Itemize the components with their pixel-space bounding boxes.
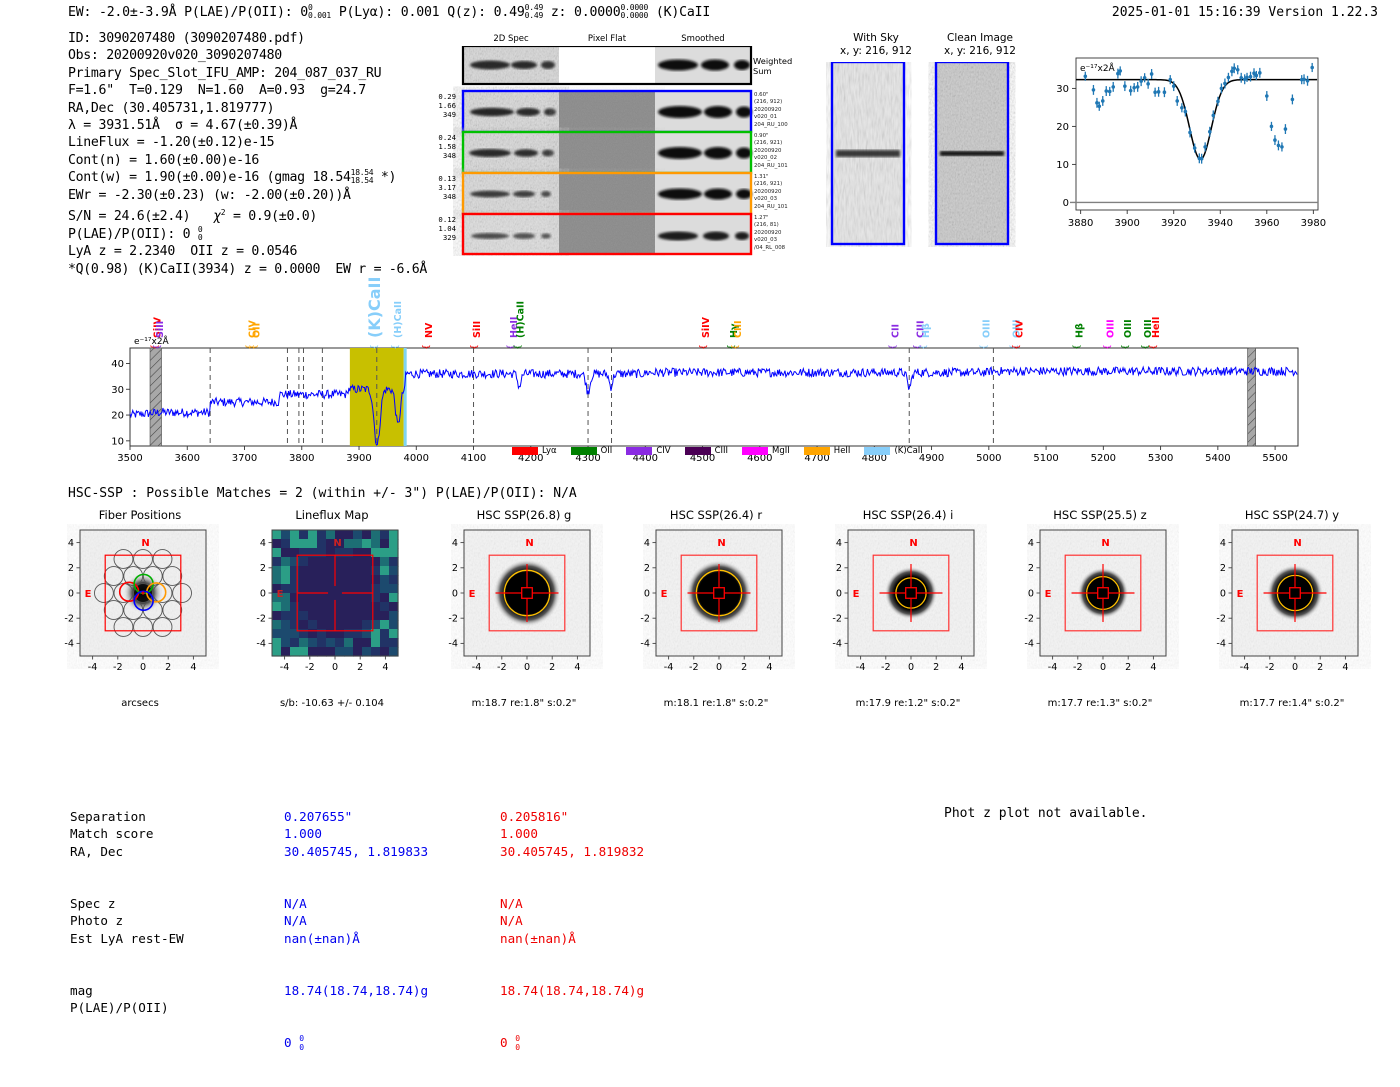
svg-text:{: {	[888, 344, 898, 350]
svg-text:5000: 5000	[976, 453, 1001, 464]
svg-text:4000: 4000	[404, 453, 429, 464]
svg-text:4: 4	[958, 662, 964, 673]
svg-text:SiIV: SiIV	[701, 316, 712, 338]
legend-entry-civ: CIV	[626, 446, 670, 456]
svg-text:4: 4	[382, 662, 388, 673]
svg-text:E: E	[1045, 589, 1052, 600]
svg-text:-2: -2	[1024, 614, 1034, 625]
svg-text:{: {	[513, 344, 523, 350]
svg-text:2: 2	[644, 563, 650, 574]
legend-swatch	[804, 447, 830, 455]
svg-text:3960: 3960	[1254, 218, 1279, 229]
svg-text:-4: -4	[1024, 639, 1034, 650]
svg-text:OIII: OIII	[1105, 319, 1116, 338]
svg-text:{: {	[919, 344, 929, 350]
spec2d-row-left-labels: 0.291.66349	[424, 92, 456, 120]
svg-text:4: 4	[836, 538, 842, 549]
legend-label: OII	[601, 446, 613, 456]
spec2d-col-title-2dspec: 2D Spec	[463, 34, 559, 44]
svg-text:20: 20	[1056, 122, 1069, 133]
svg-text:-2: -2	[64, 614, 74, 625]
svg-text:30: 30	[111, 385, 124, 396]
svg-text:N: N	[909, 538, 917, 549]
svg-text:0: 0	[1063, 198, 1069, 209]
spec2d-row-right-labels: 1.27"(216, 81)20200920v020_03/04_RL_008	[754, 215, 785, 252]
svg-text:-2: -2	[305, 662, 315, 673]
spec2d-row	[463, 91, 752, 132]
svg-text:CII: CII	[891, 324, 902, 338]
legend-swatch	[571, 447, 597, 455]
svg-text:-4: -4	[1216, 639, 1226, 650]
svg-text:N: N	[141, 538, 149, 549]
hsc-panel-0: Fiber PositionsarcsecsNE-4-2024-4-2024	[44, 508, 236, 718]
header-z-frac: 0.00000.0000	[620, 4, 648, 20]
svg-text:-4: -4	[640, 639, 650, 650]
svg-text:-4: -4	[64, 639, 74, 650]
svg-text:0: 0	[1292, 662, 1298, 673]
hsc-panel-5: HSC SSP(25.5) zm:17.7 re:1.3" s:0.2"NE-4…	[1004, 508, 1196, 718]
legend-entry-heii: HeII	[804, 446, 851, 456]
info-line-radec: RA,Dec (30.405731,1.819777)	[68, 100, 427, 117]
svg-text:{: {	[1012, 344, 1022, 350]
svg-text:4: 4	[766, 662, 772, 673]
legend-label: CIV	[656, 446, 670, 456]
with-sky-image	[832, 62, 904, 244]
svg-text:0: 0	[1100, 662, 1106, 673]
svg-text:(H)CaII: (H)CaII	[516, 301, 527, 338]
svg-text:0: 0	[332, 662, 338, 673]
legend-entry-kcaii: (K)CaII	[864, 446, 922, 456]
svg-text:{: {	[731, 344, 741, 350]
svg-text:5300: 5300	[1148, 453, 1173, 464]
svg-text:(K)CaII: (K)CaII	[365, 277, 384, 338]
svg-text:E: E	[661, 589, 668, 600]
hsc-panel-4: HSC SSP(26.4) im:17.9 re:1.2" s:0.2"NE-4…	[812, 508, 1004, 718]
hsc-panel-image: NE-4-2024-4-2024	[620, 524, 812, 714]
svg-text:0: 0	[524, 662, 530, 673]
svg-text:0: 0	[68, 588, 74, 599]
svg-text:{: {	[153, 344, 163, 350]
svg-text:-4: -4	[1240, 662, 1250, 673]
svg-text:-4: -4	[1048, 662, 1058, 673]
info-line-cont-w: Cont(w) = 1.90(±0.00)e-16 (gmag 18.5418.…	[68, 169, 427, 187]
svg-text:-2: -2	[1265, 662, 1275, 673]
svg-text:4: 4	[260, 538, 266, 549]
svg-text:-2: -2	[689, 662, 699, 673]
header-z: z: 0.0000	[551, 5, 621, 20]
hsc-panel-image: NE-4-2024-4-2024	[1004, 524, 1196, 714]
svg-text:3900: 3900	[1114, 218, 1139, 229]
legend-swatch	[626, 447, 652, 455]
svg-text:{: {	[370, 344, 380, 350]
svg-text:0: 0	[644, 588, 650, 599]
svg-text:-4: -4	[832, 639, 842, 650]
svg-text:e⁻¹⁷x2Å: e⁻¹⁷x2Å	[1080, 62, 1116, 74]
spectrum-legend: LyαOIICIVCIIIMgIIHeII(K)CaII	[512, 446, 923, 456]
svg-text:-4: -4	[856, 662, 866, 673]
svg-text:3800: 3800	[289, 453, 314, 464]
svg-text:CIII: CIII	[733, 320, 744, 338]
svg-text:2: 2	[68, 563, 74, 574]
svg-text:HeII: HeII	[1151, 317, 1162, 338]
gmag-frac: 18.5418.54	[351, 169, 374, 185]
legend-entry-lyα: Lyα	[512, 446, 557, 456]
svg-text:0: 0	[1220, 588, 1226, 599]
svg-text:E: E	[277, 589, 284, 600]
svg-text:0: 0	[1028, 588, 1034, 599]
with-sky-title: With Skyx, y: 216, 912	[826, 32, 926, 57]
info-line-lambda-sigma: λ = 3931.51Å σ = 4.67(±0.39)Å	[68, 117, 427, 134]
spec2d-row-right-labels: 1.31"(216, 921)20200920v020_03204_RU_101	[754, 174, 788, 211]
svg-text:{: {	[1103, 344, 1113, 350]
line-fit-zoom-chart: 3880390039203940396039800102030e⁻¹⁷x2Å	[1036, 50, 1326, 240]
legend-label: HeII	[834, 446, 851, 456]
svg-text:0: 0	[140, 662, 146, 673]
detection-info-block: ID: 3090207480 (3090207480.pdf) Obs: 202…	[68, 30, 427, 278]
svg-text:3920: 3920	[1161, 218, 1186, 229]
header-qz-frac: 0.490.49	[525, 4, 543, 20]
svg-text:20: 20	[111, 411, 124, 422]
hsc-panel-title: HSC SSP(26.8) g	[428, 508, 620, 522]
svg-text:2: 2	[452, 563, 458, 574]
svg-text:E: E	[85, 589, 92, 600]
svg-text:-2: -2	[113, 662, 123, 673]
svg-text:3880: 3880	[1068, 218, 1093, 229]
svg-text:{: {	[422, 344, 432, 350]
match-table-col-2: 0.205816"1.00030.405745, 1.819832 N/AN/A…	[500, 773, 644, 1087]
svg-text:4: 4	[574, 662, 580, 673]
hsc-panel-image: NE-4-2024-4-2024	[428, 524, 620, 714]
svg-text:4: 4	[1150, 662, 1156, 673]
svg-text:OIII: OIII	[1123, 319, 1134, 338]
svg-text:3500: 3500	[117, 453, 142, 464]
svg-text:-4: -4	[280, 662, 290, 673]
header-qz: Q(z): 0.49	[447, 5, 524, 20]
svg-text:-4: -4	[88, 662, 98, 673]
hsc-panel-6: HSC SSP(24.7) ym:17.7 re:1.4" s:0.2"NE-4…	[1196, 508, 1388, 718]
svg-text:3600: 3600	[175, 453, 200, 464]
header-plya: P(Lyα): 0.001	[339, 5, 440, 20]
legend-swatch	[864, 447, 890, 455]
hsc-panel-3: HSC SSP(26.4) rm:18.1 re:1.8" s:0.2"NE-4…	[620, 508, 812, 718]
spec2d-col-title-smoothed: Smoothed	[655, 34, 751, 44]
svg-text:N: N	[1293, 538, 1301, 549]
spec2d-row	[463, 214, 751, 254]
header-z-suffix: (K)CaII	[656, 5, 710, 20]
svg-text:CIV: CIV	[1014, 319, 1025, 338]
info-line-ewr: EWr = -2.30(±0.23) (w: -2.00(±0.20))Å	[68, 187, 427, 204]
svg-text:{: {	[1121, 344, 1131, 350]
spec2d-row-left-labels: 0.121.04329	[424, 215, 456, 243]
svg-text:{: {	[1149, 344, 1159, 350]
full-spectrum-chart: 3500360037003800390040004100420043004400…	[96, 270, 1306, 470]
svg-text:OII: OII	[252, 323, 263, 338]
legend-entry-oii: OII	[571, 446, 613, 456]
svg-text:10: 10	[1056, 160, 1069, 171]
clean-image	[936, 62, 1008, 244]
legend-label: MgII	[772, 446, 790, 456]
svg-text:SiII: SiII	[155, 321, 166, 338]
hsc-headline: HSC-SSP : Possible Matches = 2 (within +…	[68, 486, 577, 501]
svg-text:10: 10	[111, 436, 124, 447]
spec2d-row-right-labels: 0.90"(216, 921)20200920v020_02204_RU_101	[754, 133, 788, 170]
hsc-panel-1: Lineflux Maps/b: -10.63 +/- 0.104NE-4-20…	[236, 508, 428, 718]
svg-text:5200: 5200	[1091, 453, 1116, 464]
info-line-lineflux: LineFlux = -1.20(±0.12)e-15	[68, 134, 427, 151]
svg-text:0: 0	[836, 588, 842, 599]
legend-entry-ciii: CIII	[685, 446, 728, 456]
svg-text:3940: 3940	[1208, 218, 1233, 229]
info-line-plae: P(LAE)/P(OII): 0 00	[68, 226, 427, 244]
legend-swatch	[512, 447, 538, 455]
info-line-cont-n: Cont(n) = 1.60(±0.00)e-16	[68, 152, 427, 169]
svg-text:N: N	[333, 538, 341, 549]
legend-label: (K)CaII	[894, 446, 922, 456]
svg-text:2: 2	[549, 662, 555, 673]
hsc-panel-title: Fiber Positions	[44, 508, 236, 522]
svg-text:N: N	[717, 538, 725, 549]
svg-text:2: 2	[1028, 563, 1034, 574]
header-plae-frac: 00.001	[308, 4, 331, 20]
info-line-params: F=1.6" T=0.129 N=1.60 A=0.93 g=24.7	[68, 82, 427, 99]
svg-text:5500: 5500	[1262, 453, 1287, 464]
svg-text:5100: 5100	[1033, 453, 1058, 464]
spec2d-row-left-labels: 0.133.17348	[424, 174, 456, 202]
svg-text:0: 0	[260, 588, 266, 599]
svg-text:-4: -4	[256, 639, 266, 650]
svg-text:0: 0	[716, 662, 722, 673]
spec2d-row-right-labels: 0.60"(216, 912)20200920v020_01204_RU_100	[754, 92, 788, 129]
svg-text:Hβ: Hβ	[1074, 323, 1085, 338]
svg-text:0: 0	[908, 662, 914, 673]
plae-frac: 00	[198, 226, 203, 242]
svg-text:E: E	[1237, 589, 1244, 600]
svg-text:4: 4	[1342, 662, 1348, 673]
timestamp-version: 2025-01-01 15:16:39 Version 1.22.3	[1112, 5, 1378, 20]
svg-text:40: 40	[111, 359, 124, 370]
header-plae-value: 0	[300, 5, 308, 20]
spec2d-row	[463, 173, 752, 214]
spec2d-row	[463, 132, 752, 173]
match-table-col-1: 0.207655"1.00030.405745, 1.819833 N/AN/A…	[284, 773, 428, 1087]
hsc-panel-2: HSC SSP(26.8) gm:18.7 re:1.8" s:0.2"NE-4…	[428, 508, 620, 718]
svg-text:2: 2	[933, 662, 939, 673]
svg-text:Hβ: Hβ	[921, 323, 932, 338]
info-line-id: ID: 3090207480 (3090207480.pdf)	[68, 30, 427, 47]
clean-image-title: Clean Imagex, y: 216, 912	[930, 32, 1030, 57]
hsc-panel-title: HSC SSP(24.7) y	[1196, 508, 1388, 522]
svg-text:N: N	[1101, 538, 1109, 549]
svg-text:OIII: OIII	[982, 319, 993, 338]
svg-text:4: 4	[190, 662, 196, 673]
svg-text:{: {	[699, 344, 709, 350]
svg-text:-2: -2	[1216, 614, 1226, 625]
svg-text:4: 4	[644, 538, 650, 549]
svg-text:2: 2	[260, 563, 266, 574]
svg-text:2: 2	[741, 662, 747, 673]
svg-text:0: 0	[452, 588, 458, 599]
spec2d-col-title-pixelflat: Pixel Flat	[559, 34, 655, 44]
svg-text:-2: -2	[881, 662, 891, 673]
svg-text:{: {	[1072, 344, 1082, 350]
phot-z-note: Phot z plot not available.	[944, 806, 1148, 821]
svg-text:4: 4	[1028, 538, 1034, 549]
hsc-panel-image: NE-4-2024-4-2024	[236, 524, 428, 714]
legend-label: CIII	[715, 446, 728, 456]
svg-text:-2: -2	[832, 614, 842, 625]
svg-text:2: 2	[836, 563, 842, 574]
svg-text:4: 4	[1220, 538, 1226, 549]
svg-text:SiII: SiII	[472, 321, 483, 338]
svg-text:3700: 3700	[232, 453, 257, 464]
svg-text:(H)CaII: (H)CaII	[393, 301, 404, 338]
svg-text:4: 4	[452, 538, 458, 549]
hsc-panel-title: HSC SSP(25.5) z	[1004, 508, 1196, 522]
sky-cutout-images	[826, 62, 1030, 247]
legend-swatch	[742, 447, 768, 455]
svg-text:2: 2	[1220, 563, 1226, 574]
svg-text:{: {	[391, 344, 401, 350]
info-line-sn-chi: S/N = 24.6(±2.4) χ2 = 0.9(±0.0)	[68, 204, 427, 225]
svg-text:N: N	[525, 538, 533, 549]
info-line-obs: Obs: 20200920v020_3090207480	[68, 47, 427, 64]
info-line-primary-spec: Primary Spec_Slot_IFU_AMP: 204_087_037_R…	[68, 65, 427, 82]
info-line-redshifts: LyA z = 2.2340 OII z = 0.0546	[68, 243, 427, 260]
legend-label: Lyα	[542, 446, 557, 456]
legend-entry-mgii: MgII	[742, 446, 790, 456]
hsc-panel-title: HSC SSP(26.4) i	[812, 508, 1004, 522]
svg-text:-4: -4	[664, 662, 674, 673]
header-summary: EW: -2.0±-3.9Å P(LAE)/P(OII): 000.001 P(…	[68, 4, 710, 20]
svg-text:-4: -4	[448, 639, 458, 650]
svg-text:4100: 4100	[461, 453, 486, 464]
weighted-sum-label: WeightedSum	[753, 56, 792, 76]
match-table-labels: SeparationMatch scoreRA, Dec Spec zPhoto…	[70, 773, 184, 1052]
svg-text:NV: NV	[424, 322, 435, 338]
svg-text:4: 4	[68, 538, 74, 549]
svg-text:3900: 3900	[346, 453, 371, 464]
svg-text:2: 2	[1125, 662, 1131, 673]
svg-text:-2: -2	[497, 662, 507, 673]
svg-text:-4: -4	[472, 662, 482, 673]
hsc-panel-row: Fiber PositionsarcsecsNE-4-2024-4-2024Li…	[44, 508, 1384, 718]
svg-text:-2: -2	[256, 614, 266, 625]
svg-text:2: 2	[357, 662, 363, 673]
hsc-panel-image: NE-4-2024-4-2024	[44, 524, 236, 714]
legend-swatch	[685, 447, 711, 455]
svg-text:{: {	[250, 344, 260, 350]
header-plae-label: P(LAE)/P(OII):	[184, 5, 292, 20]
svg-text:E: E	[469, 589, 476, 600]
svg-text:{: {	[980, 344, 990, 350]
hsc-panel-image: NE-4-2024-4-2024	[1196, 524, 1388, 714]
svg-text:-2: -2	[1073, 662, 1083, 673]
hsc-panel-title: HSC SSP(26.4) r	[620, 508, 812, 522]
svg-text:3980: 3980	[1301, 218, 1326, 229]
svg-text:-2: -2	[640, 614, 650, 625]
svg-text:E: E	[853, 589, 860, 600]
svg-text:5400: 5400	[1205, 453, 1230, 464]
svg-text:30: 30	[1056, 84, 1069, 95]
spec2d-row-left-labels: 0.241.58348	[424, 133, 456, 161]
svg-text:{: {	[470, 344, 480, 350]
svg-text:2: 2	[165, 662, 171, 673]
hsc-panel-image: NE-4-2024-4-2024	[812, 524, 1004, 714]
header-ew: EW: -2.0±-3.9Å	[68, 5, 176, 20]
svg-text:-2: -2	[448, 614, 458, 625]
svg-text:2: 2	[1317, 662, 1323, 673]
spec2d-row-weighted-sum	[463, 46, 751, 84]
hsc-panel-title: Lineflux Map	[236, 508, 428, 522]
